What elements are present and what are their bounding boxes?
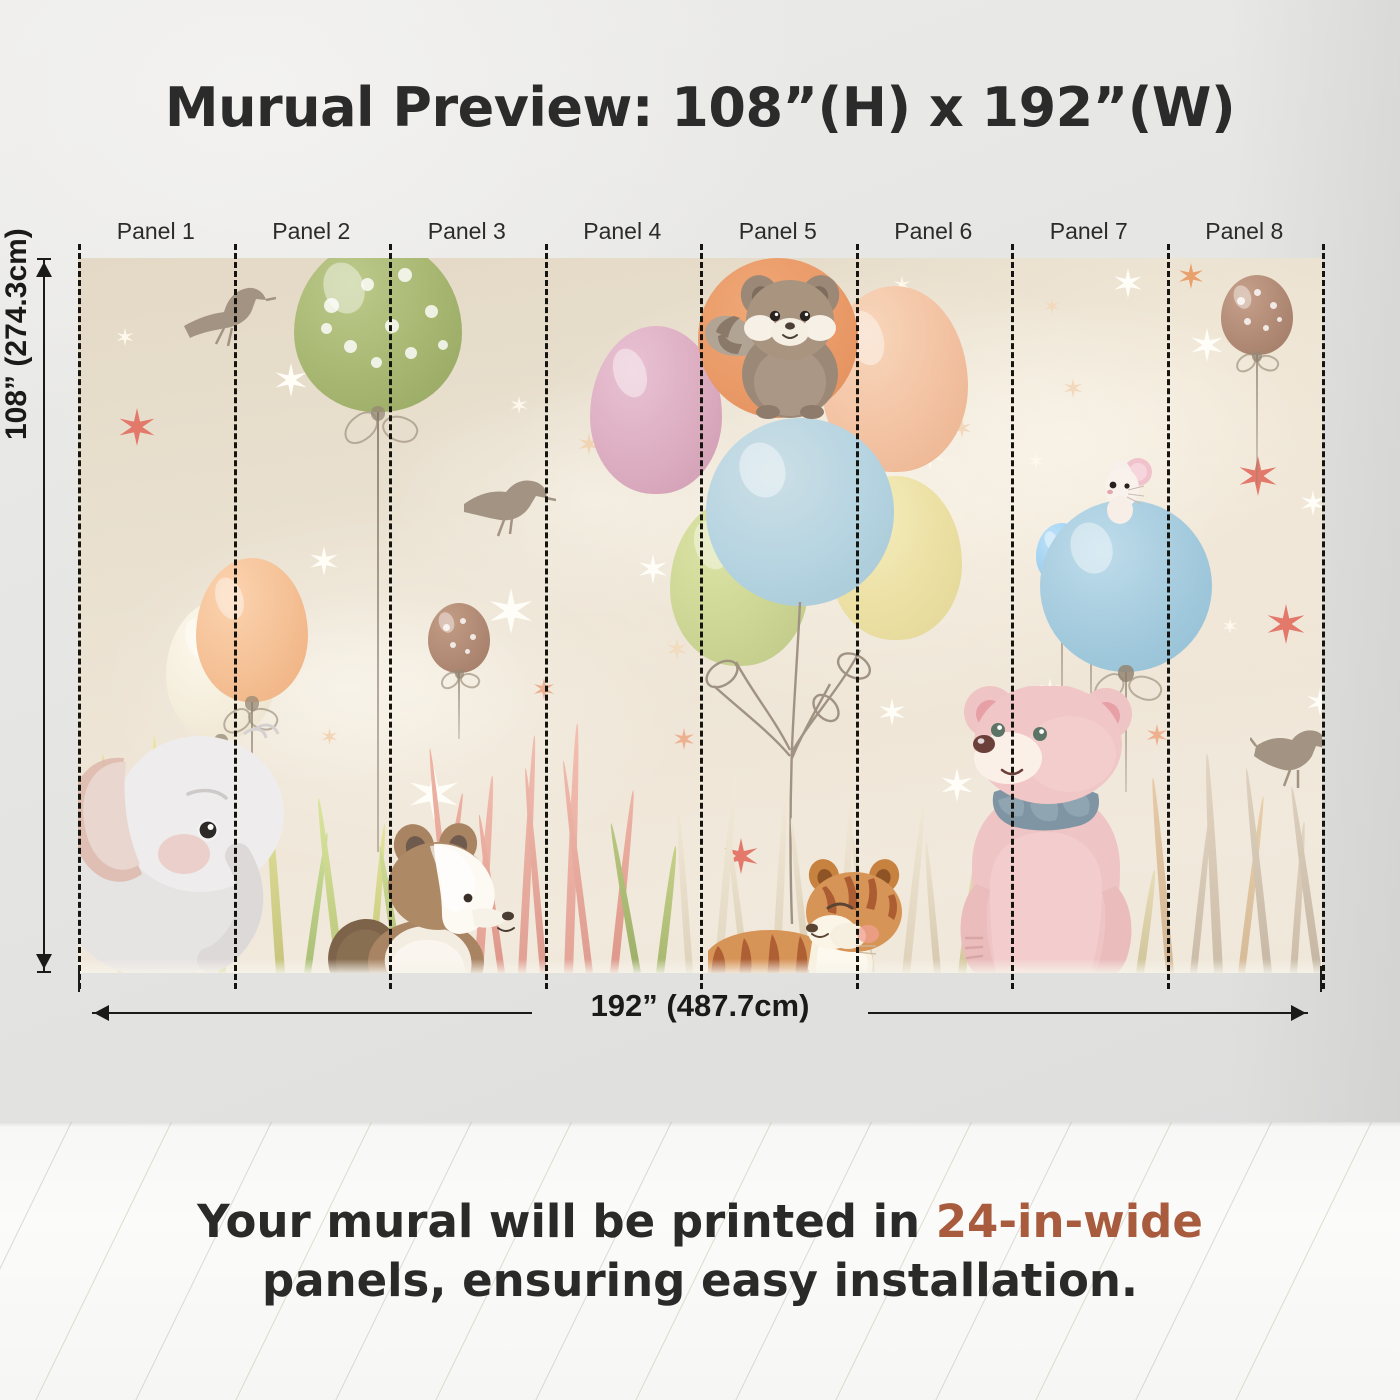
panel-divider-5 — [856, 244, 859, 989]
panel-divider-3 — [545, 244, 548, 989]
heron-bird-icon — [176, 274, 276, 346]
tiger-cub — [708, 854, 928, 973]
caption-line1-before: Your mural will be printed in — [197, 1195, 936, 1248]
caption-highlight: 24-in-wide — [936, 1195, 1203, 1248]
mural-preview-screenshot: Murual Preview: 108”(H) x 192”(W) Panel … — [0, 0, 1400, 1400]
brown-polkadot-balloon — [1221, 275, 1293, 355]
panel-divider-4 — [700, 244, 703, 989]
panel-label-4: Panel 4 — [545, 214, 701, 248]
grass-blade — [656, 845, 680, 973]
badger — [322, 814, 542, 973]
height-dimension-label: 108” (274.3cm) — [0, 228, 34, 440]
panel-divider-7 — [1167, 244, 1170, 989]
mouse — [1094, 454, 1166, 526]
brown-polkadot-balloon-small — [428, 603, 490, 673]
panel-label-3: Panel 3 — [389, 214, 545, 248]
raccoon — [692, 266, 872, 436]
caption-line2: panels, ensuring easy installation. — [262, 1254, 1138, 1307]
panel-label-5: Panel 5 — [700, 214, 856, 248]
panel-label-2: Panel 2 — [234, 214, 390, 248]
grass-blade — [674, 807, 693, 973]
panel-divider-2 — [389, 244, 392, 989]
pink-bear — [930, 686, 1160, 973]
panel-divider-6 — [1011, 244, 1014, 989]
page-title: Murual Preview: 108”(H) x 192”(W) — [0, 76, 1400, 139]
panel-divider-1 — [234, 244, 237, 989]
arrow-down-icon — [36, 954, 52, 969]
arrow-up-icon — [36, 262, 52, 277]
panel-label-7: Panel 7 — [1011, 214, 1167, 248]
width-dimension-label: 192” (487.7cm) — [0, 988, 1400, 1024]
panel-label-row: Panel 1 Panel 2 Panel 3 Panel 4 Panel 5 … — [78, 214, 1322, 248]
blue-balloon-large — [706, 418, 894, 606]
panel-label-8: Panel 8 — [1167, 214, 1323, 248]
panel-label-1: Panel 1 — [78, 214, 234, 248]
panel-divider-8 — [1322, 244, 1325, 989]
green-polkadot-balloon — [294, 258, 462, 412]
floor-seam — [0, 1122, 1400, 1127]
panel-label-6: Panel 6 — [856, 214, 1012, 248]
panel-divider-0 — [78, 244, 81, 989]
orange-balloon — [196, 558, 308, 702]
heron-bird-icon — [460, 468, 556, 538]
elephant — [78, 706, 338, 973]
caption: Your mural will be printed in 24-in-wide… — [0, 1192, 1400, 1311]
height-dimension-line — [43, 258, 45, 973]
